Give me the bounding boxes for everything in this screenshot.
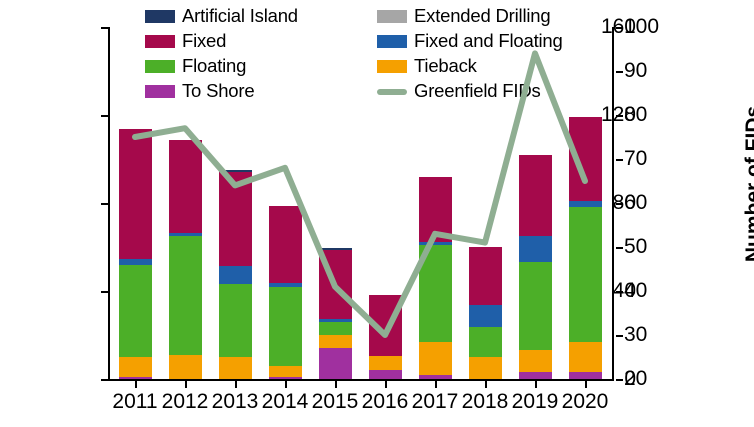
bar-2017[interactable] xyxy=(419,27,452,379)
bar-segment-tieback xyxy=(519,350,552,372)
bar-segment-fixed-and-floating xyxy=(469,305,502,327)
bar-segment-fixed xyxy=(419,177,452,242)
right-axis-tick xyxy=(616,71,623,73)
bar-2020[interactable] xyxy=(569,27,602,379)
bar-segment-fixed-and-floating xyxy=(319,319,352,322)
bar-2013[interactable] xyxy=(219,27,252,379)
bar-2011[interactable] xyxy=(119,27,152,379)
bar-segment-fixed-and-floating xyxy=(169,233,202,236)
left-axis-tick xyxy=(101,203,108,205)
left-axis-tick xyxy=(101,379,108,381)
bar-segment-floating xyxy=(319,322,352,335)
bar-segment-floating xyxy=(219,284,252,357)
x-axis-label-2015: 2015 xyxy=(312,390,359,414)
right-axis-tick-label: 20 xyxy=(624,367,647,391)
bar-segment-fixed xyxy=(569,117,602,201)
bar-segment-fixed xyxy=(169,140,202,232)
bar-segment-tieback xyxy=(119,357,152,377)
legend-label: Artificial Island xyxy=(182,7,298,26)
x-axis-tick xyxy=(285,381,287,388)
x-axis-tick xyxy=(385,381,387,388)
left-axis-tick xyxy=(101,115,108,117)
bar-segment-fixed xyxy=(119,129,152,259)
bar-segment-tieback xyxy=(319,335,352,348)
bar-segment-artificial-island xyxy=(219,170,252,172)
bar-segment-floating xyxy=(419,245,452,342)
right-axis-tick xyxy=(616,335,623,337)
bar-segment-to-shore xyxy=(269,377,302,379)
bar-segment-artificial-island xyxy=(319,248,352,250)
capex-fid-chart: Artificial IslandExtended DrillingFixedF… xyxy=(0,0,754,427)
x-axis-label-2018: 2018 xyxy=(462,390,509,414)
bar-segment-tieback xyxy=(419,342,452,375)
x-axis-tick xyxy=(335,381,337,388)
plot-area xyxy=(110,27,610,379)
x-axis-tick xyxy=(235,381,237,388)
right-axis-tick-label: 80 xyxy=(624,103,647,127)
legend-item-extended-drilling[interactable]: Extended Drilling xyxy=(377,4,610,29)
bar-segment-tieback xyxy=(169,355,202,379)
bar-2018[interactable] xyxy=(469,27,502,379)
right-axis-tick-label: 90 xyxy=(624,59,647,83)
x-axis-line xyxy=(108,379,614,381)
x-axis-tick xyxy=(435,381,437,388)
right-axis-tick-label: 50 xyxy=(624,235,647,259)
legend-swatch-icon xyxy=(145,10,175,23)
bar-2014[interactable] xyxy=(269,27,302,379)
left-axis-tick xyxy=(101,27,108,29)
bar-segment-to-shore xyxy=(419,375,452,379)
x-axis-tick xyxy=(185,381,187,388)
x-axis-label-2016: 2016 xyxy=(362,390,409,414)
bar-segment-fixed-and-floating xyxy=(219,266,252,285)
x-axis-tick xyxy=(135,381,137,388)
x-axis-tick xyxy=(585,381,587,388)
bar-segment-fixed-and-floating xyxy=(269,283,302,287)
bar-segment-fixed-and-floating xyxy=(419,242,452,245)
bar-segment-fixed xyxy=(319,250,352,318)
bar-2019[interactable] xyxy=(519,27,552,379)
x-axis-label-2013: 2013 xyxy=(212,390,259,414)
bar-segment-fixed xyxy=(369,295,402,356)
right-axis-tick-label: 40 xyxy=(624,279,647,303)
right-axis-tick-label: 100 xyxy=(624,15,659,39)
bar-segment-fixed xyxy=(519,155,552,236)
bar-segment-fixed xyxy=(269,206,302,283)
bar-segment-fixed-and-floating xyxy=(569,201,602,208)
right-axis-tick xyxy=(616,379,623,381)
bar-segment-to-shore xyxy=(519,372,552,379)
x-axis-tick xyxy=(535,381,537,388)
right-axis-title: Number of FIDs xyxy=(742,106,754,262)
bar-segment-to-shore xyxy=(319,348,352,379)
bar-segment-fixed-and-floating xyxy=(519,236,552,262)
bar-segment-tieback xyxy=(269,366,302,377)
bar-segment-to-shore xyxy=(119,377,152,379)
bar-segment-tieback xyxy=(469,357,502,379)
bar-2016[interactable] xyxy=(369,27,402,379)
legend-label: Extended Drilling xyxy=(414,7,550,26)
bar-segment-floating xyxy=(119,265,152,357)
bar-segment-tieback xyxy=(219,357,252,379)
bar-2015[interactable] xyxy=(319,27,352,379)
bar-segment-floating xyxy=(169,236,202,355)
bar-2012[interactable] xyxy=(169,27,202,379)
right-axis-tick xyxy=(616,159,623,161)
legend-item-artificial-island[interactable]: Artificial Island xyxy=(145,4,377,29)
bar-segment-tieback xyxy=(569,342,602,373)
x-axis-label-2012: 2012 xyxy=(162,390,209,414)
bar-segment-tieback xyxy=(369,356,402,370)
x-axis-label-2019: 2019 xyxy=(512,390,559,414)
x-axis-tick xyxy=(485,381,487,388)
bar-segment-floating xyxy=(269,287,302,366)
bar-segment-fixed xyxy=(219,172,252,266)
right-axis-tick-label: 60 xyxy=(624,191,647,215)
bar-segment-floating xyxy=(569,207,602,341)
bar-segment-fixed xyxy=(469,247,502,305)
right-axis-tick xyxy=(616,247,623,249)
bar-segment-fixed-and-floating xyxy=(119,259,152,265)
x-axis-label-2020: 2020 xyxy=(562,390,609,414)
bar-segment-floating xyxy=(519,262,552,350)
x-axis-label-2017: 2017 xyxy=(412,390,459,414)
x-axis-label-2011: 2011 xyxy=(112,390,157,414)
bar-segment-to-shore xyxy=(369,370,402,379)
x-axis-label-2014: 2014 xyxy=(262,390,309,414)
bar-segment-floating xyxy=(469,327,502,357)
right-axis-tick-label: 70 xyxy=(624,147,647,171)
legend-swatch-icon xyxy=(377,10,407,23)
left-axis-tick xyxy=(101,291,108,293)
right-axis-tick-label: 30 xyxy=(624,323,647,347)
bar-segment-to-shore xyxy=(569,372,602,379)
